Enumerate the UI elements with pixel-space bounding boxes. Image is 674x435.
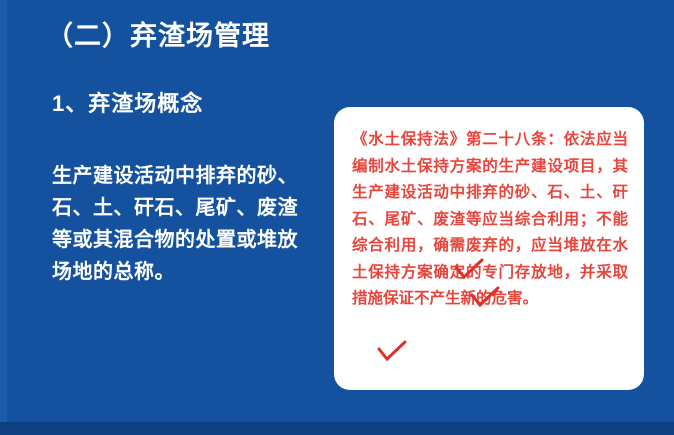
law-quote-card: 《水土保持法》第二十八条：依法应当编制水土保持方案的生产建设项目，其生产建设活动… bbox=[334, 107, 644, 390]
section-heading: 1、弃渣场概念 bbox=[52, 86, 203, 118]
page-title: （二）弃渣场管理 bbox=[46, 14, 270, 53]
slide: （二）弃渣场管理 1、弃渣场概念 生产建设活动中排弃的砂、石、土、矸石、尾矿、废… bbox=[0, 0, 674, 435]
definition-paragraph: 生产建设活动中排弃的砂、石、土、矸石、尾矿、废渣等或其混合物的处置或堆放场地的总… bbox=[52, 160, 307, 288]
bottom-bar bbox=[0, 422, 674, 435]
law-quote-text: 《水土保持法》第二十八条：依法应当编制水土保持方案的生产建设项目，其生产建设活动… bbox=[352, 127, 628, 313]
left-edge-strip bbox=[0, 0, 7, 435]
